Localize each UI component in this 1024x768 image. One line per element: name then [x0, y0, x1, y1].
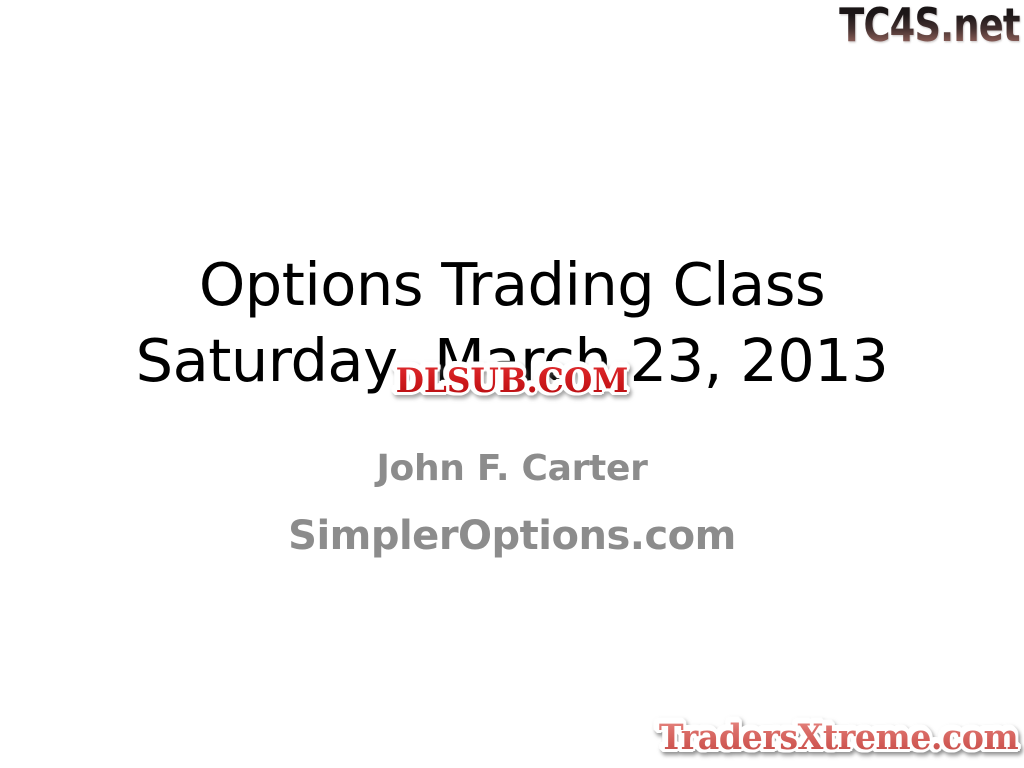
watermark-tradersxtreme: TradersXtreme.com — [659, 717, 1018, 759]
subtitle-block: John F. Carter SimplerOptions.com — [0, 445, 1024, 562]
presenter-name: John F. Carter — [0, 445, 1024, 493]
brand-logo-tc4s: TC4S.net — [839, 2, 1020, 48]
watermark-dlsub: DLSUB.COM — [396, 361, 629, 401]
presentation-slide: TC4S.net Options Trading Class Saturday,… — [0, 0, 1024, 768]
title-line-1: Options Trading Class — [0, 247, 1024, 323]
presenter-website: SimplerOptions.com — [0, 510, 1024, 562]
